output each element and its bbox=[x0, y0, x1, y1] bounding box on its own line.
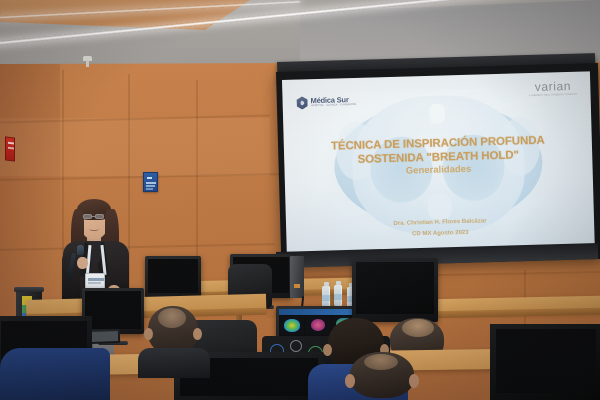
conference-room-photo: Médica Sur HOSPITAL · CLÍNICA · FUNDACIÓ… bbox=[0, 0, 600, 400]
sprinkler-head-icon bbox=[83, 56, 92, 69]
microphone-icon bbox=[77, 245, 84, 255]
attendee-3 bbox=[330, 352, 438, 400]
medica-sur-mark-icon bbox=[296, 96, 307, 109]
monitor-right-row bbox=[352, 258, 438, 322]
emergency-exit-sign bbox=[5, 136, 15, 161]
wall-seam bbox=[196, 80, 198, 285]
varian-logo-name: varian bbox=[535, 80, 572, 93]
glasses-icon bbox=[83, 214, 92, 219]
computer-tower bbox=[290, 256, 304, 298]
attendee-1 bbox=[142, 306, 204, 366]
waste-bin-rim bbox=[14, 287, 44, 292]
presenter-hand-left bbox=[77, 257, 88, 269]
projection-screen: Médica Sur HOSPITAL · CLÍNICA · FUNDACIÓ… bbox=[282, 71, 595, 258]
water-bottle bbox=[322, 286, 330, 308]
monitor-back-left bbox=[145, 256, 201, 298]
varian-logo: varian A SIEMENS HEALTHINEERS COMPANY bbox=[528, 80, 577, 97]
medica-sur-logo: Médica Sur HOSPITAL · CLÍNICA · FUNDACIÓ… bbox=[296, 95, 356, 110]
wall-info-plaque bbox=[143, 172, 158, 192]
monitor-foreground-right bbox=[490, 324, 600, 400]
water-bottle bbox=[334, 285, 342, 307]
attendee-blue-shirt-foreground bbox=[0, 348, 110, 400]
medica-sur-logo-tagline: HOSPITAL · CLÍNICA · FUNDACIÓN bbox=[311, 104, 357, 108]
